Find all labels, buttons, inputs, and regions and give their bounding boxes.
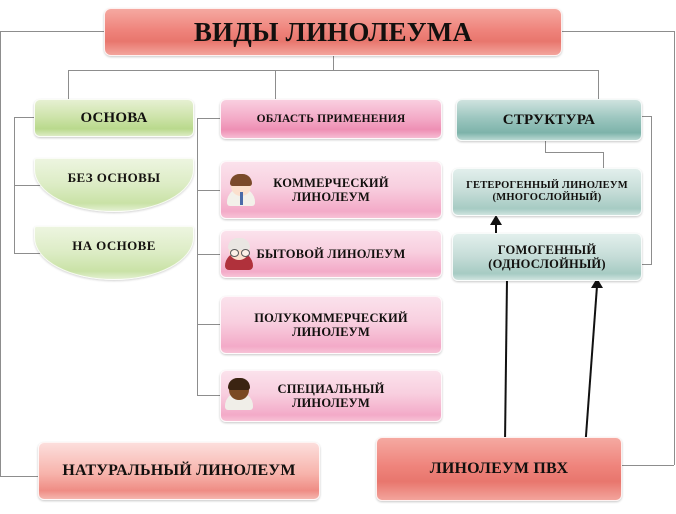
node-heterogeneous-linoleum-line1: ГЕТЕРОГЕННЫЙ ЛИНОЛЕУМ [466, 180, 628, 192]
branch-header-basis-label: ОСНОВА [80, 110, 147, 127]
arrow-pvc-to-homogeneous-left [503, 279, 511, 451]
connector-title-stem [333, 56, 334, 70]
branch-header-structure[interactable]: СТРУКТУРА [456, 99, 642, 141]
node-pvc-linoleum-label: ЛИНОЛЕУМ ПВХ [430, 460, 569, 478]
node-with-basis[interactable]: НА ОСНОВЕ [34, 226, 194, 280]
connector-left-spine [0, 31, 1, 476]
connector-struct-child-2 [641, 264, 652, 265]
connector-title-bar [68, 70, 598, 71]
node-pvc-linoleum[interactable]: ЛИНОЛЕУМ ПВХ [376, 437, 622, 501]
businessman-avatar-icon [224, 172, 258, 206]
connector-struct-spine [651, 116, 652, 264]
connector-right-spine [674, 31, 675, 465]
connector-app-child-4 [197, 395, 220, 396]
node-natural-linoleum[interactable]: НАТУРАЛЬНЫЙ ЛИНОЛЕУМ [38, 442, 320, 500]
connector-drop-basis [68, 70, 69, 99]
node-special-linoleum-line2: ЛИНОЛЕУМ [292, 396, 370, 410]
node-semicommercial-linoleum-line2: ЛИНОЛЕУМ [292, 325, 370, 339]
node-commercial-linoleum-line1: КОММЕРЧЕСКИЙ [273, 176, 389, 190]
node-without-basis-label: БЕЗ ОСНОВЫ [34, 170, 194, 186]
arrow-pvc-to-homogeneous-right [583, 278, 611, 452]
node-semicommercial-linoleum-line1: ПОЛУКОММЕРЧЕСКИЙ [254, 311, 408, 325]
branch-header-structure-label: СТРУКТУРА [503, 112, 595, 129]
connector-app-child-1 [197, 190, 220, 191]
connector-drop-application [275, 70, 276, 99]
node-natural-linoleum-label: НАТУРАЛЬНЫЙ ЛИНОЛЕУМ [62, 462, 295, 480]
branch-header-basis[interactable]: ОСНОВА [34, 99, 194, 137]
node-without-basis[interactable]: БЕЗ ОСНОВЫ [34, 158, 194, 212]
diagram-title: ВИДЫ ЛИНОЛЕУМА [104, 8, 562, 56]
node-semicommercial-linoleum[interactable]: ПОЛУКОММЕРЧЕСКИЙ ЛИНОЛЕУМ [220, 296, 442, 354]
branch-header-application-label: ОБЛАСТЬ ПРИМЕНЕНИЯ [257, 113, 406, 126]
branch-header-application[interactable]: ОБЛАСТЬ ПРИМЕНЕНИЯ [220, 99, 442, 139]
node-commercial-linoleum-line2: ЛИНОЛЕУМ [292, 190, 370, 204]
grandmother-avatar-icon [222, 236, 256, 270]
connector-to-natural [0, 476, 38, 477]
diagram-canvas: ВИДЫ ЛИНОЛЕУМА ОСНОВА БЕЗ ОСНОВЫ НА ОСНО… [0, 0, 676, 514]
node-heterogeneous-linoleum-line2: (МНОГОСЛОЙНЫЙ) [493, 192, 602, 204]
connector-struct-mid-bar [545, 152, 603, 153]
connector-app-spine [197, 118, 198, 395]
connector-app-child-2 [197, 254, 220, 255]
node-with-basis-label: НА ОСНОВЕ [34, 238, 194, 254]
connector-app-header-stub [197, 118, 220, 119]
connector-title-left-rail [0, 31, 104, 32]
diagram-title-label: ВИДЫ ЛИНОЛЕУМА [194, 17, 472, 47]
connector-struct-mid-stem [545, 140, 546, 152]
node-heterogeneous-linoleum[interactable]: ГЕТЕРОГЕННЫЙ ЛИНОЛЕУМ (МНОГОСЛОЙНЫЙ) [452, 168, 642, 216]
node-special-linoleum-line1: СПЕЦИАЛЬНЫЙ [277, 382, 384, 396]
node-homogeneous-linoleum[interactable]: ГОМОГЕННЫЙ (ОДНОСЛОЙНЫЙ) [452, 233, 642, 281]
connector-title-right-rail [562, 31, 675, 32]
connector-struct-mid-drop [603, 152, 604, 169]
connector-drop-structure [598, 70, 599, 99]
node-homogeneous-linoleum-line1: ГОМОГЕННЫЙ [498, 243, 597, 257]
connector-to-pvc [622, 465, 674, 466]
connector-basis-header-stub [14, 117, 34, 118]
worker-avatar-icon [222, 376, 256, 410]
node-household-linoleum-line1: БЫТОВОЙ ЛИНОЛЕУМ [256, 247, 405, 261]
node-homogeneous-linoleum-line2: (ОДНОСЛОЙНЫЙ) [488, 257, 605, 271]
connector-app-child-3 [197, 324, 220, 325]
